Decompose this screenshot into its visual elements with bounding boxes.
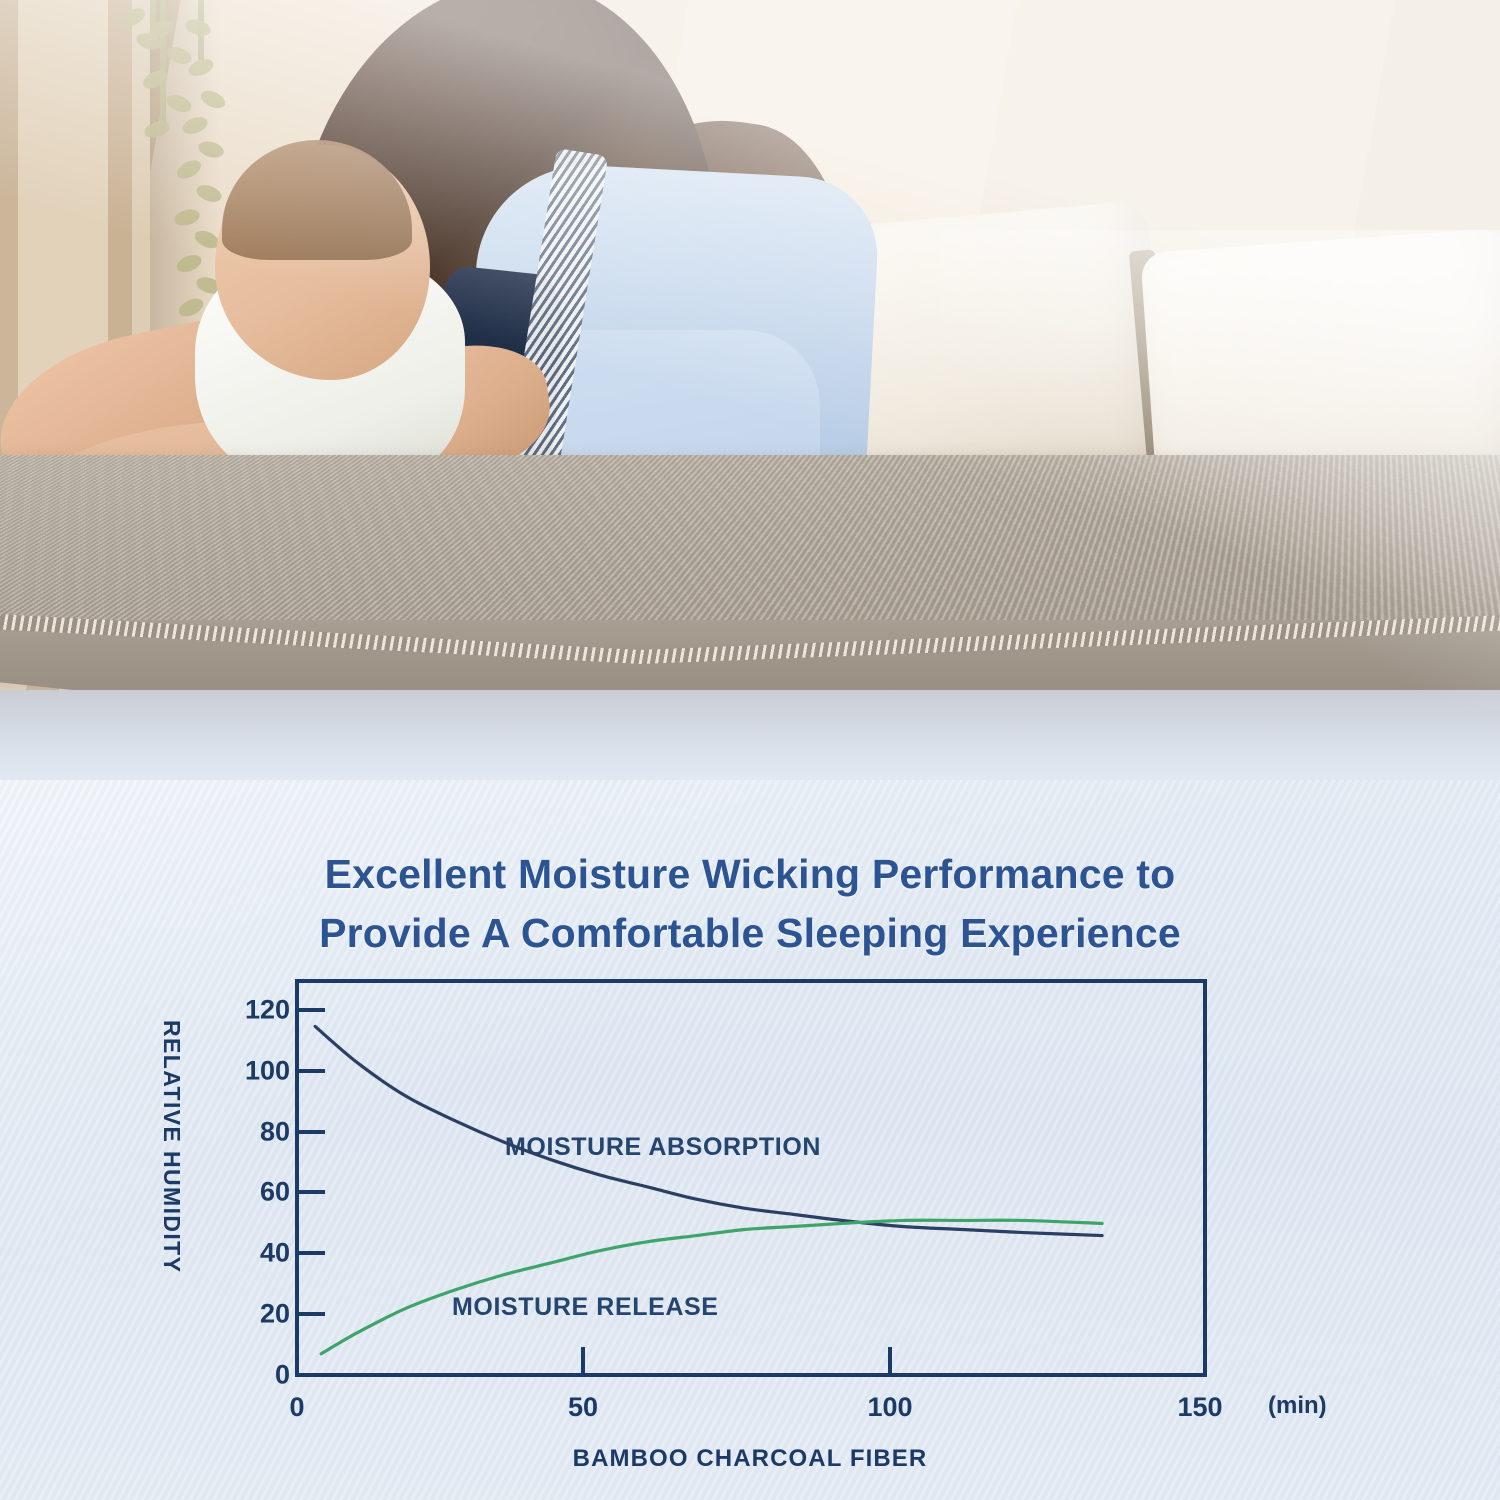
x-tick-100: 100 [867, 1392, 912, 1423]
y-tick-labels: 0 20 40 60 80 100 120 [210, 0, 290, 1500]
x-tick-0: 0 [289, 1392, 304, 1423]
moisture-chart: RELATIVE HUMIDITY BAMBOO CHARCOAL FIBER … [0, 0, 1500, 1500]
x-tick-50: 50 [568, 1392, 598, 1423]
release-curve-label: MOISTURE RELEASE [452, 1293, 719, 1322]
plot-frame [297, 981, 1205, 1375]
absorption-curve-label: MOISTURE ABSORPTION [505, 1133, 821, 1162]
y-tick-120: 120 [245, 995, 290, 1026]
y-tick-20: 20 [260, 1299, 290, 1330]
y-axis-title: RELATIVE HUMIDITY [158, 1020, 185, 1273]
y-tick-80: 80 [260, 1117, 290, 1148]
product-infographic: Excellent Moisture Wicking Performance t… [0, 0, 1500, 1500]
x-tick-marks [583, 1347, 890, 1375]
plot-border [297, 981, 1205, 1375]
x-axis-unit: (min) [1268, 1392, 1327, 1420]
y-tick-marks [297, 1010, 325, 1314]
release-curve [321, 1220, 1102, 1354]
absorption-curve [315, 1026, 1102, 1235]
y-tick-60: 60 [260, 1177, 290, 1208]
x-tick-150: 150 [1177, 1392, 1222, 1423]
y-tick-40: 40 [260, 1238, 290, 1269]
y-tick-0: 0 [275, 1360, 290, 1391]
y-tick-100: 100 [245, 1056, 290, 1087]
